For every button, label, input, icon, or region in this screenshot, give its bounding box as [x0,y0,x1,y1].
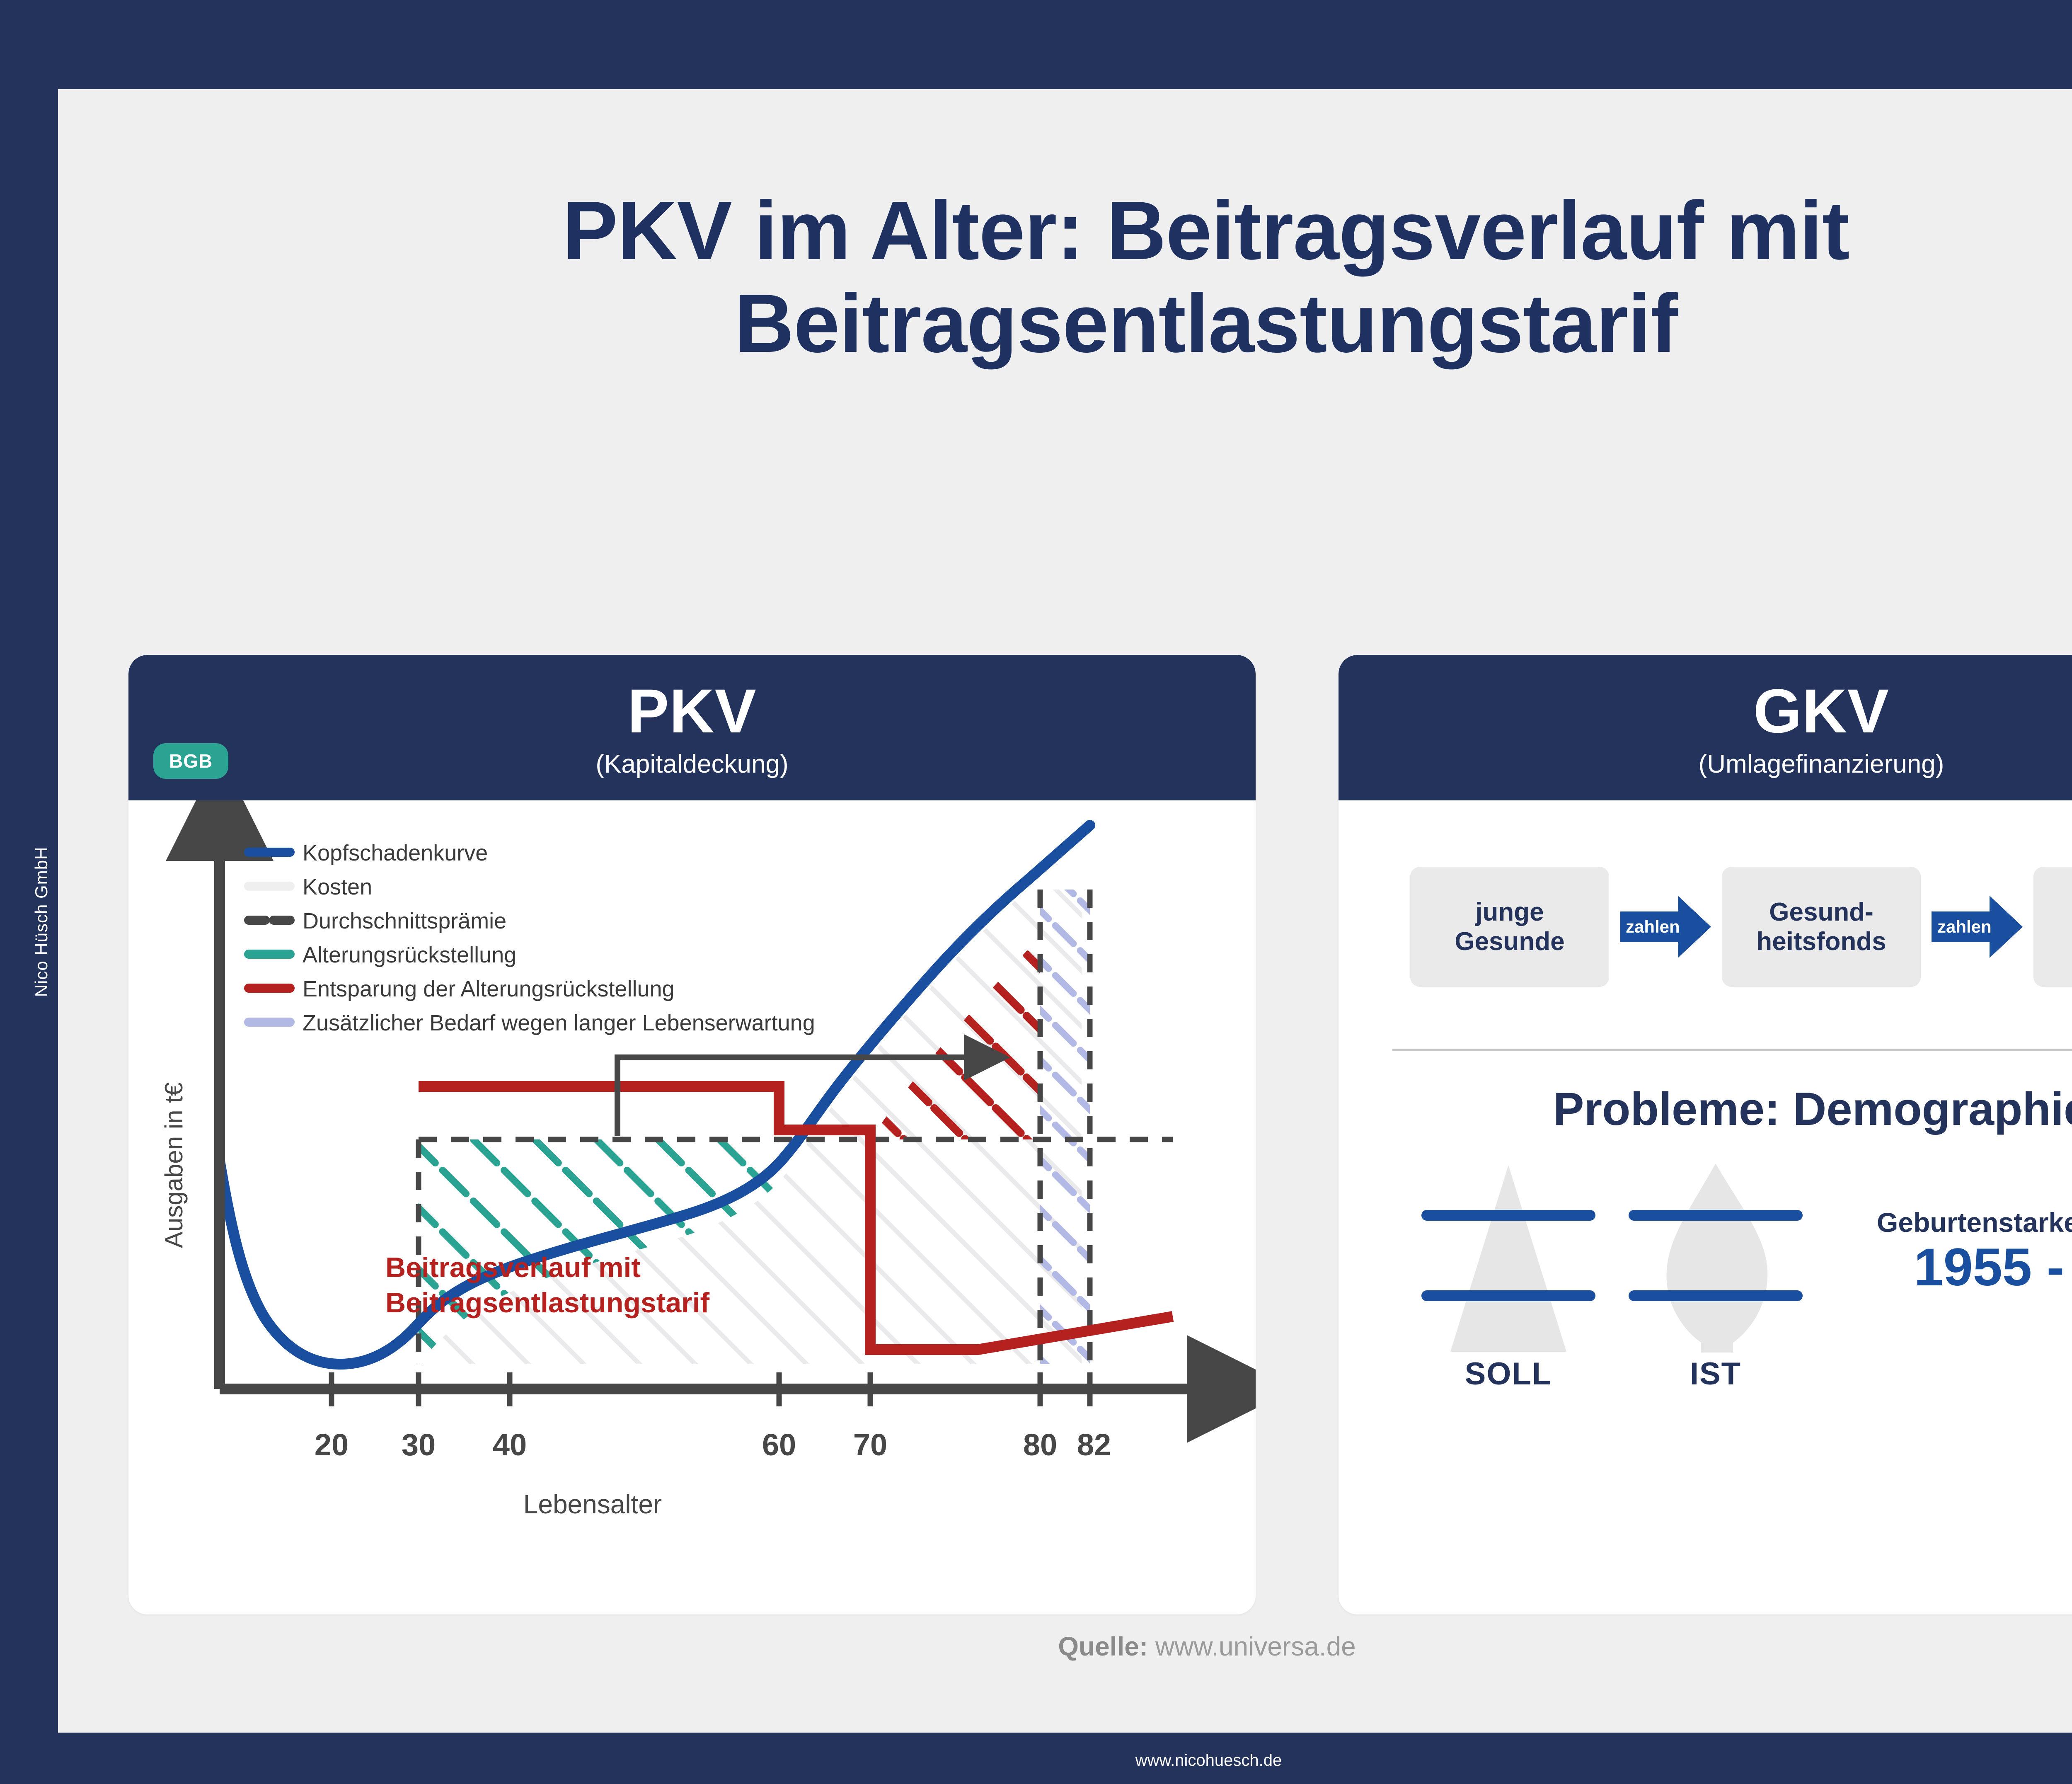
x-axis-tick-labels: 20 30 40 60 70 80 82 [315,1428,1111,1462]
pkv-chart-svg: 20 30 40 60 70 80 82 Lebensalter Ausgabe… [128,800,1256,1567]
legend-label-5: Zusätzlicher Bedarf wegen langer Lebense… [303,1011,815,1035]
source-value: www.universa.de [1155,1631,1356,1661]
legend-label-4: Entsparung der Alterungsrückstellung [303,977,675,1001]
pkv-card: PKV (Kapitaldeckung) [128,655,1256,1614]
cohort-years: 1955 - 1975 [1848,1240,2072,1295]
xtick-80: 80 [1023,1428,1057,1462]
annotation-line1: Beitragsverlauf mit [385,1252,641,1283]
legend-label-3: Alterungsrückstellung [303,943,516,967]
pkv-chart: 20 30 40 60 70 80 82 Lebensalter Ausgabe… [128,800,1256,1567]
source-prefix: Quelle: [1058,1631,1148,1661]
x-axis-label: Lebensalter [523,1489,662,1519]
pyramid-label-soll: SOLL [1421,1356,1595,1392]
pyramid-soll-icon [1421,1161,1595,1356]
nh-monogram-logo [1155,0,1264,91]
flow-box-junge-gesunde: jungeGesunde [1410,867,1609,987]
xtick-70: 70 [853,1428,887,1462]
xtick-82: 82 [1077,1428,1111,1462]
cohort-callout: Geburtenstarke Jahrgänge: 1955 - 1975 [1848,1207,2072,1295]
footer-url: www.nicohuesch.de [0,1751,2072,1770]
cohort-label: Geburtenstarke Jahrgänge: [1848,1207,2072,1238]
gkv-subheading: (Umlagefinanzierung) [1339,749,2072,779]
flow-arrow-icon-1: zahlen [1620,896,1711,958]
xtick-40: 40 [493,1428,527,1462]
flow-arrow-label-0: zahlen [1626,917,1680,937]
pkv-card-header: PKV (Kapitaldeckung) [128,655,1256,800]
page-canvas: PKV im Alter: Beitragsverlauf mit Beitra… [58,89,2072,1733]
page-title: PKV im Alter: Beitragsverlauf mit Beitra… [108,184,2072,370]
chart-legend: Kopfschadenkurve Kosten Durchschnittsprä… [249,841,815,1035]
flow-arrow-icon-2: zahlen [1932,896,2023,958]
page-title-line2: Beitragsentlastungstarif [108,277,2072,370]
gkv-card-header: GKV (Umlagefinanzierung) [1339,655,2072,800]
zusaetzlicher-bedarf-area [1040,890,1090,1364]
xtick-20: 20 [315,1428,349,1462]
gkv-flow-diagram: jungeGesunde zahlen Gesund-heitsfonds za… [1339,867,2072,987]
xtick-30: 30 [402,1428,436,1462]
flow-box-label-0: jungeGesunde [1455,897,1564,957]
pkv-subheading: (Kapitaldeckung) [128,749,1256,779]
flow-box-alte-kranke: alteKranke [2033,867,2072,987]
status-badge-bgb: BGB [153,743,228,779]
left-sidebar-label: Nico Hüsch GmbH [31,777,51,1067]
gkv-problems-title: Probleme: Demographie [1339,1082,2072,1136]
flow-arrow-label-1: zahlen [1937,917,1992,937]
frame-top-bar [0,0,2072,89]
source-line: Quelle: www.universa.de [58,1631,2072,1662]
legend-label-1: Kosten [303,875,372,899]
gkv-heading: GKV [1339,680,2072,742]
flow-box-label-1: Gesund-heitsfonds [1756,897,1886,957]
legend-label-0: Kopfschadenkurve [303,841,488,865]
pyramid-label-ist: IST [1629,1356,1803,1392]
xtick-60: 60 [762,1428,796,1462]
gkv-divider [1392,1049,2072,1051]
pkv-heading: PKV [128,680,1256,742]
page-title-line1: PKV im Alter: Beitragsverlauf mit [108,184,2072,277]
pyramid-ist-icon [1629,1161,1803,1356]
gkv-demography-graphic: SOLL IST Geburtenstarke Jahrgänge: 1955 … [1339,1161,2072,1426]
legend-label-2: Durchschnittsprämie [303,909,506,933]
y-axis-label: Ausgaben in t€ [160,1082,188,1248]
annotation-line2: Beitragsentlastungstarif [385,1287,710,1319]
gkv-card: GKV (Umlagefinanzierung) jungeGesunde za… [1339,655,2072,1614]
flow-box-gesundheitsfonds: Gesund-heitsfonds [1722,867,1921,987]
